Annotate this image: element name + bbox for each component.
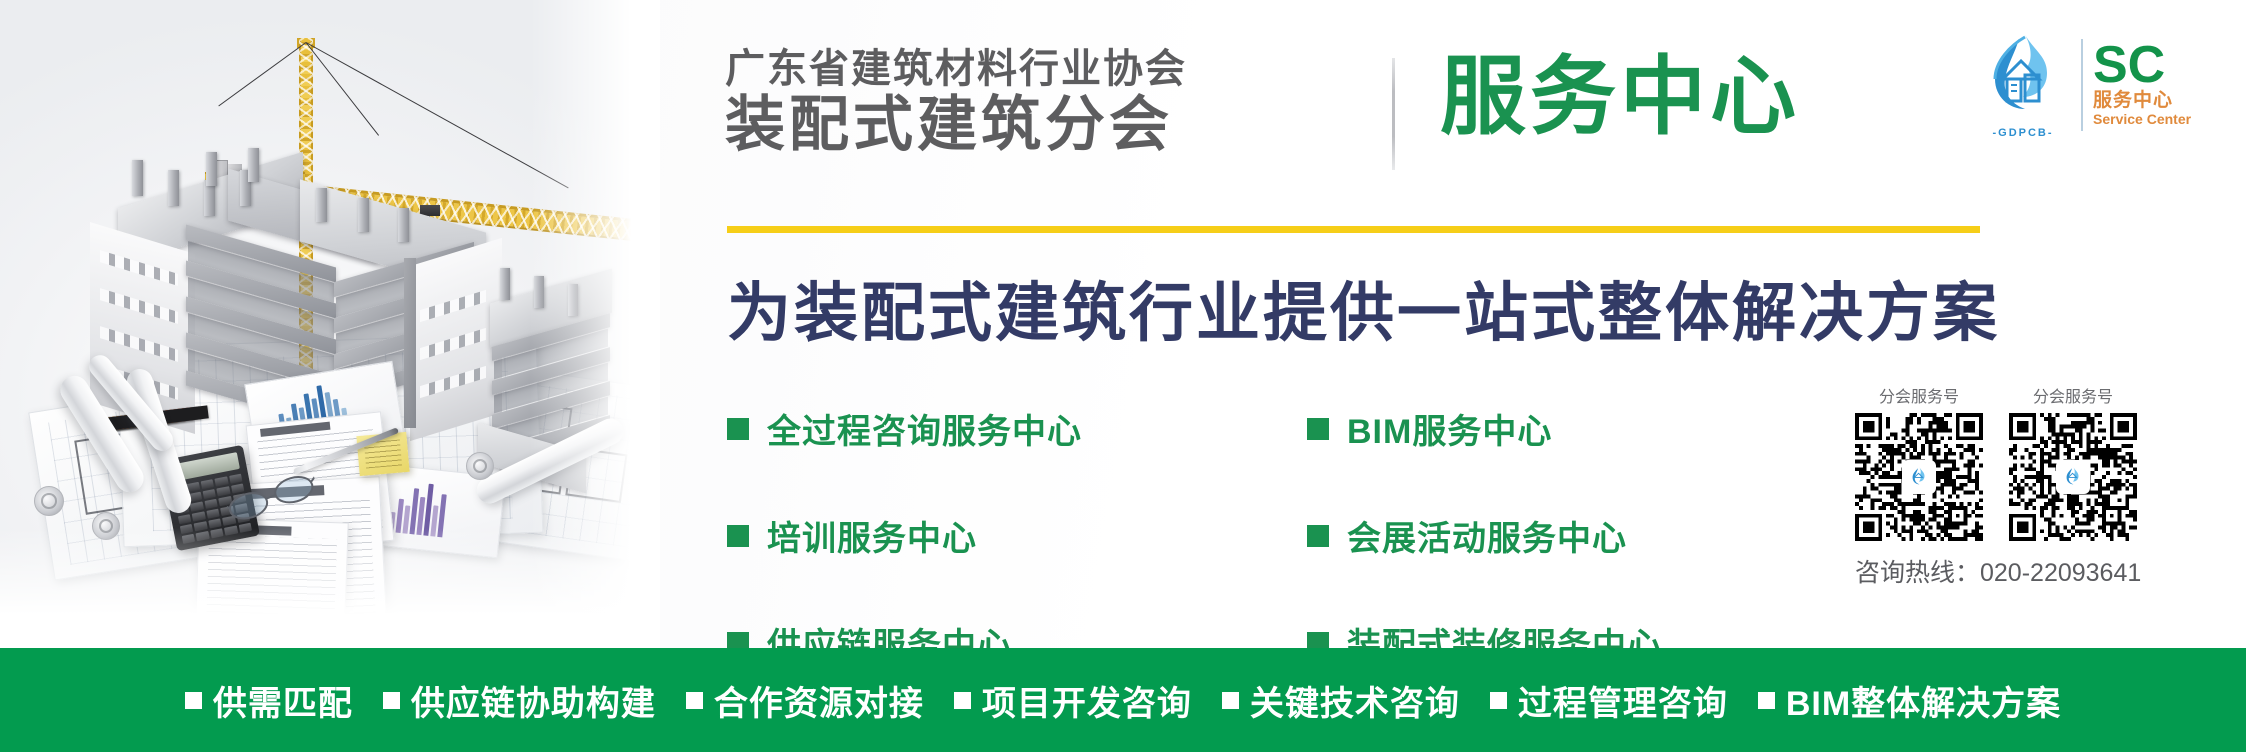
- bottom-bar-item-label: 合作资源对接: [714, 676, 924, 725]
- bottom-bar-item[interactable]: 项目开发咨询: [954, 676, 1192, 725]
- square-bullet-icon: [686, 692, 703, 709]
- sc-english-label: Service Center: [2093, 111, 2191, 128]
- square-bullet-icon: [1490, 692, 1507, 709]
- qr-code-icon[interactable]: [1855, 413, 1983, 541]
- list-item-label: BIM服务中心: [1347, 404, 1552, 453]
- bottom-bar-item-label: 供应链协助构建: [411, 676, 656, 725]
- bottom-bar-item[interactable]: 供需匹配: [185, 676, 353, 725]
- square-bullet-icon: [954, 692, 971, 709]
- organization-title-block: 广东省建筑材料行业协会 装配式建筑分会: [725, 48, 1345, 156]
- bottom-bar-item-label: 关键技术咨询: [1250, 676, 1460, 725]
- vertical-divider-icon: [1392, 58, 1395, 170]
- square-bullet-icon: [1307, 525, 1329, 547]
- rolled-blueprint-end: [34, 486, 64, 516]
- list-item[interactable]: 会展活动服务中心: [1307, 511, 1777, 560]
- gdpcb-mini-logo-icon: [1904, 462, 1934, 492]
- hero-construction-image: [0, 0, 660, 648]
- service-center-title: 服务中心: [1440, 52, 1800, 142]
- square-bullet-icon: [727, 525, 749, 547]
- yellow-divider-rule: [727, 226, 1980, 233]
- bottom-bar-item-label: 项目开发咨询: [982, 676, 1192, 725]
- list-item-label: 会展活动服务中心: [1347, 511, 1627, 560]
- qr-code-area: 分会服务号 分会服务号: [1855, 383, 2155, 589]
- square-bullet-icon: [185, 692, 202, 709]
- bottom-bar-item[interactable]: 合作资源对接: [686, 676, 924, 725]
- gdpcb-house-flame-logo-icon: -GDPCB-: [1975, 31, 2071, 139]
- square-bullet-icon: [1307, 418, 1329, 440]
- sc-service-center-logo: SC 服务中心 Service Center: [2093, 42, 2191, 128]
- list-item[interactable]: 全过程咨询服务中心: [727, 404, 1307, 453]
- logo-area: -GDPCB- SC 服务中心 Service Center: [1975, 25, 2215, 145]
- qr-caption: 分会服务号: [2009, 383, 2137, 407]
- bottom-bar-item[interactable]: BIM整体解决方案: [1758, 676, 2061, 725]
- gdpcb-caption: -GDPCB-: [1975, 127, 2071, 139]
- service-center-banner: 广东省建筑材料行业协会 装配式建筑分会 服务中心 为装配式建筑行业提供一站式整体…: [0, 0, 2246, 752]
- main-tagline: 为装配式建筑行业提供一站式整体解决方案: [727, 262, 2000, 354]
- bottom-bar-item-label: BIM整体解决方案: [1786, 676, 2061, 725]
- service-center-list: 全过程咨询服务中心 BIM服务中心 培训服务中心 会展活动服务中心 供应链服务中…: [727, 404, 1777, 667]
- sc-monogram: SC: [2093, 42, 2191, 90]
- bottom-services-bar: 供需匹配 供应链协助构建 合作资源对接 项目开发咨询 关键技术咨询 过程管理咨询…: [0, 648, 2246, 752]
- square-bullet-icon: [1222, 692, 1239, 709]
- qr-code-block[interactable]: 分会服务号: [2009, 383, 2137, 541]
- square-bullet-icon: [383, 692, 400, 709]
- qr-code-icon[interactable]: [2009, 413, 2137, 541]
- bottom-bar-item-label: 过程管理咨询: [1518, 676, 1728, 725]
- qr-caption: 分会服务号: [1855, 383, 1983, 407]
- hotline-text: 咨询热线：020-22093641: [1855, 553, 2155, 589]
- square-bullet-icon: [727, 418, 749, 440]
- bottom-bar-item[interactable]: 过程管理咨询: [1490, 676, 1728, 725]
- qr-code-block[interactable]: 分会服务号: [1855, 383, 1983, 541]
- sc-chinese-label: 服务中心: [2093, 90, 2191, 112]
- square-bullet-icon: [1758, 692, 1775, 709]
- bottom-bar-item[interactable]: 供应链协助构建: [383, 676, 656, 725]
- association-name: 广东省建筑材料行业协会: [725, 48, 1345, 91]
- rolled-blueprint-end: [466, 452, 494, 480]
- list-item-label: 全过程咨询服务中心: [767, 404, 1082, 453]
- bottom-bar-item[interactable]: 关键技术咨询: [1222, 676, 1460, 725]
- list-item[interactable]: 培训服务中心: [727, 511, 1307, 560]
- gdpcb-mini-logo-icon: [2058, 462, 2088, 492]
- logo-separator-icon: [2081, 39, 2083, 131]
- bottom-bar-item-label: 供需匹配: [213, 676, 353, 725]
- list-item[interactable]: BIM服务中心: [1307, 404, 1777, 453]
- list-item-label: 培训服务中心: [767, 511, 977, 560]
- branch-name: 装配式建筑分会: [725, 93, 1345, 156]
